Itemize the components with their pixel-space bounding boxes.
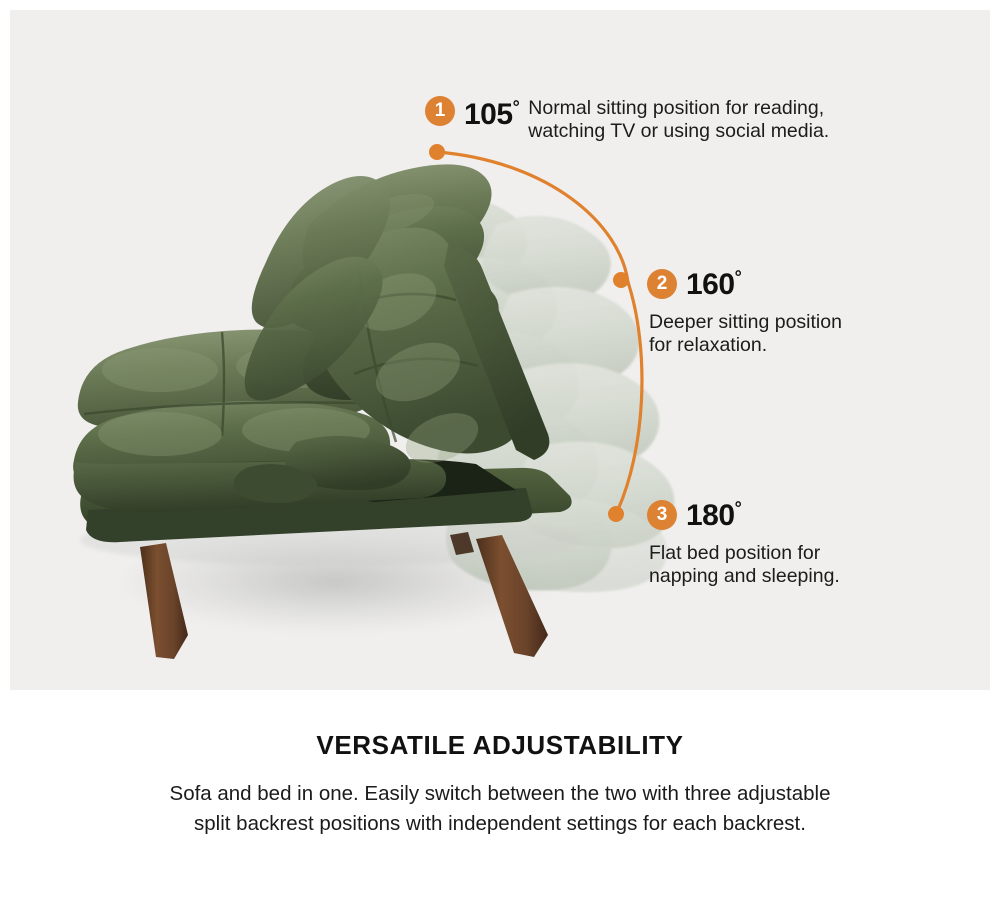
arc-dot-1 (429, 144, 445, 160)
callout-160-degrees: 2 160° Deeper sitting position for relax… (647, 268, 842, 357)
callout-badge-1: 1 (425, 96, 455, 126)
callout-description-2: Deeper sitting position for relaxation. (649, 311, 842, 357)
arc-segment-1-to-2 (438, 152, 628, 282)
callout-angle-2: 160° (686, 268, 741, 300)
callout-badge-3: 3 (647, 500, 677, 530)
callout-description-3: Flat bed position for napping and sleepi… (649, 542, 840, 588)
footer-body: Sofa and bed in one. Easily switch betwe… (0, 779, 1000, 839)
callout-description-1: Normal sitting position for reading, wat… (528, 97, 829, 143)
infographic-page: 1 105° Normal sitting position for readi… (0, 0, 1000, 917)
callout-badge-2: 2 (647, 269, 677, 299)
arc-segment-2-to-3 (616, 282, 642, 514)
product-photo-panel: 1 105° Normal sitting position for readi… (10, 10, 990, 690)
callout-angle-1: 105° (464, 98, 519, 130)
callout-180-degrees: 3 180° Flat bed position for napping and… (647, 499, 840, 588)
arc-dot-2 (613, 272, 629, 288)
arc-dot-3 (608, 506, 624, 522)
callout-105-degrees: 1 105° Normal sitting position for readi… (425, 96, 829, 143)
footer-title: VERSATILE ADJUSTABILITY (0, 730, 1000, 761)
footer-section: VERSATILE ADJUSTABILITY Sofa and bed in … (0, 700, 1000, 839)
callout-angle-3: 180° (686, 499, 741, 531)
